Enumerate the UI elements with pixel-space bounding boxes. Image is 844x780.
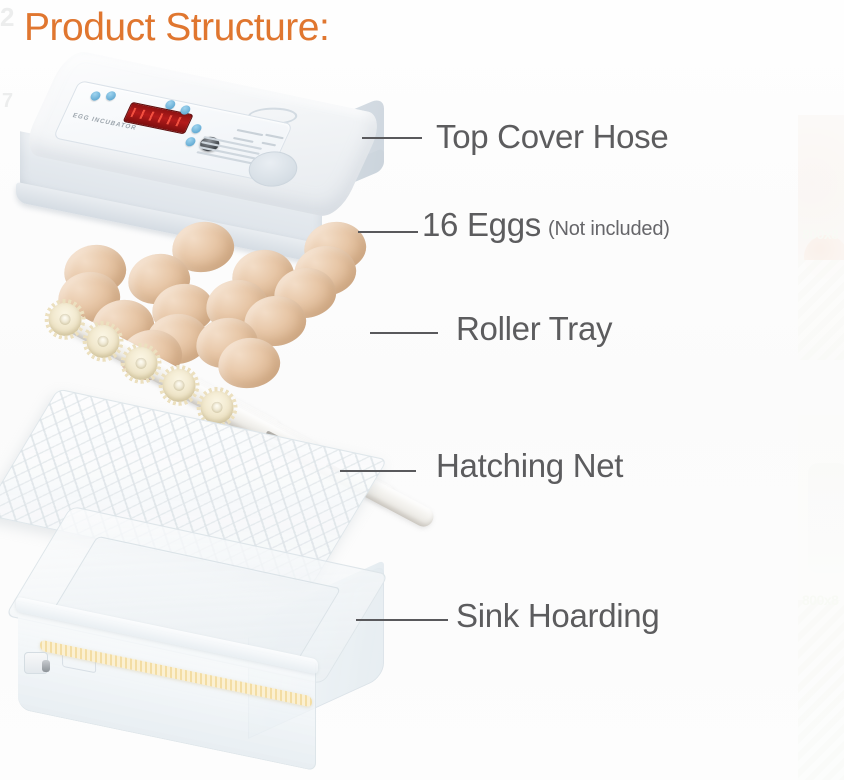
callout-note: (Not included) [548, 218, 670, 241]
callout-label: Roller Tray [456, 310, 612, 348]
part-sink-hoarding[interactable] [16, 540, 386, 775]
leader-line [362, 137, 422, 139]
callout-label: 16 Eggs [422, 206, 541, 244]
leader-line [356, 619, 448, 621]
leader-line [370, 332, 438, 334]
product-structure-diagram: 2 7 Product Structure: 800x8 800x8 [0, 0, 844, 780]
leader-line [340, 470, 416, 472]
callout-label: Hatching Net [436, 447, 623, 485]
leader-line [358, 231, 418, 233]
callout-label: Top Cover Hose [436, 118, 668, 156]
rack-pin [42, 660, 50, 672]
callout-label: Sink Hoarding [456, 597, 659, 635]
exploded-parts-group: EGG INCUBATOR [0, 0, 844, 780]
